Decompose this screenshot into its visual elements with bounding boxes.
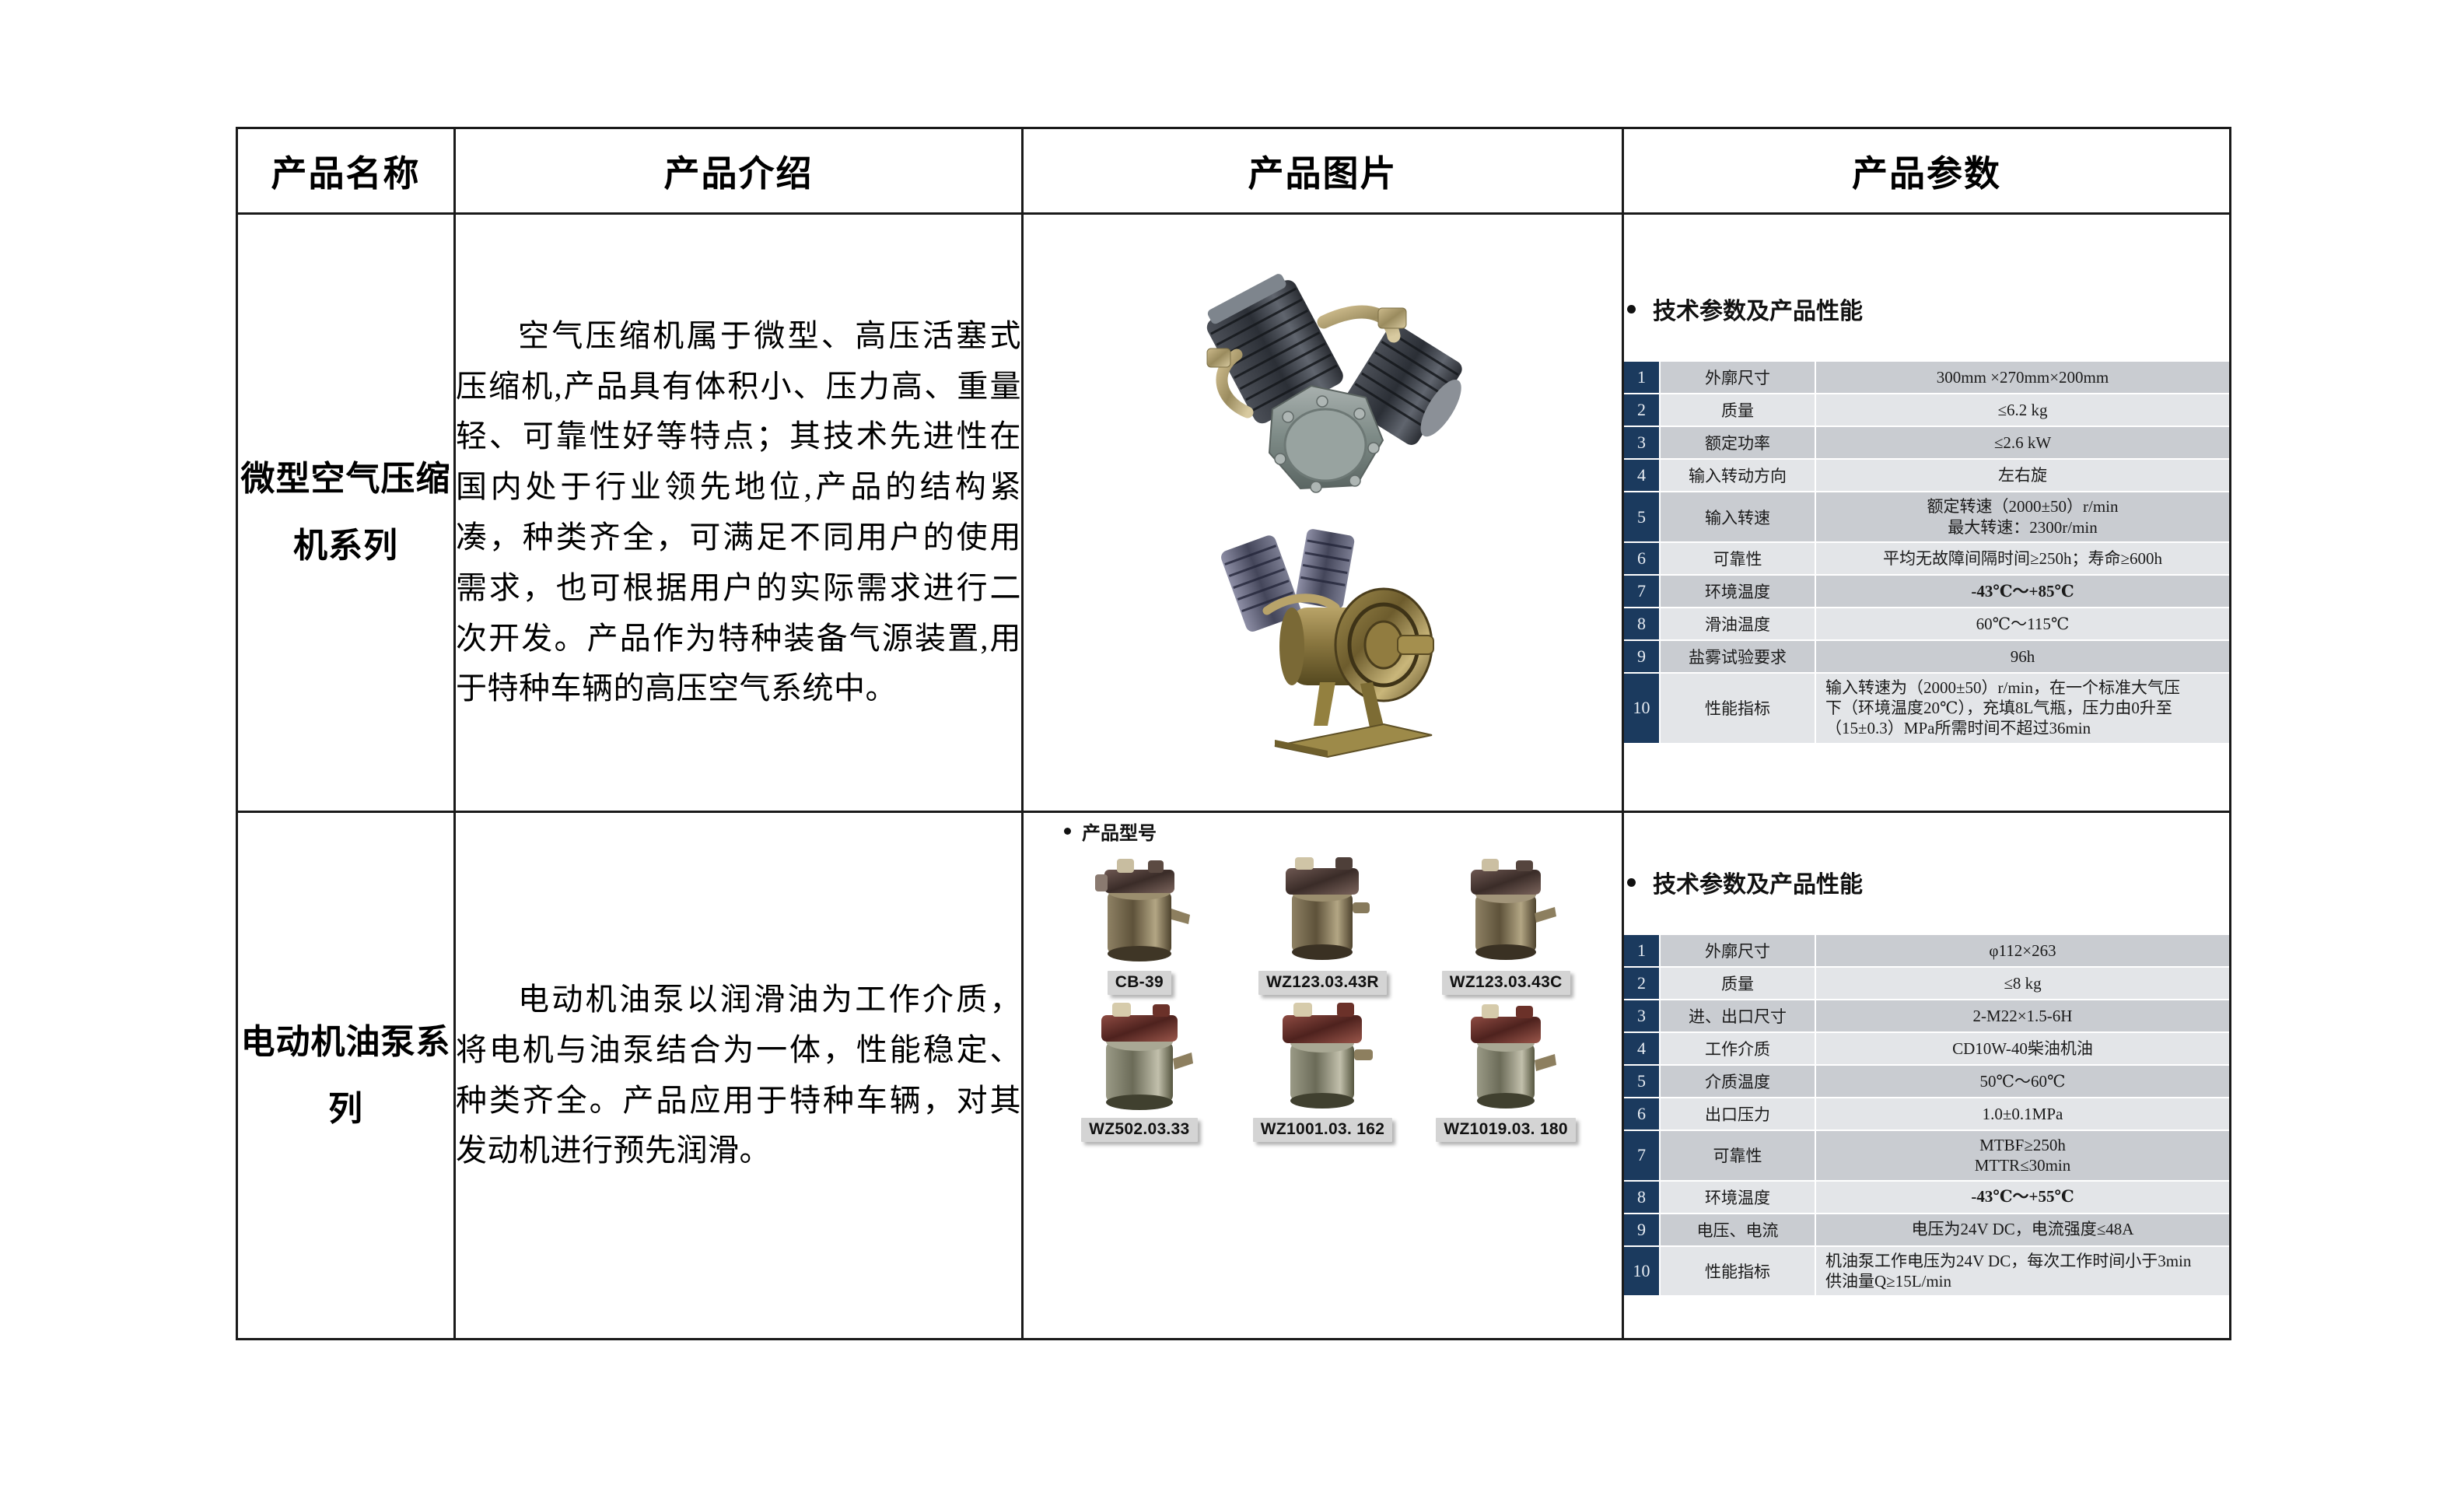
product-name-2: 电动机油泵系列 [237, 812, 455, 1340]
list-item: CB-39 [1052, 851, 1227, 995]
spec-value: ≤8 kg [1815, 967, 2229, 1000]
spec-title-2: 产品性能及技术参数 [1624, 907, 2229, 935]
model-caption: WZ1001.03. 162 [1253, 1118, 1392, 1142]
spec-value: 50℃～60℃ [1815, 1065, 2229, 1098]
spec-value: 60℃～115℃ [1815, 608, 2229, 640]
spec-table-2: 产品性能及技术参数 1外廓尺寸φ112×263 2质量≤8 kg 3进、出口尺寸… [1624, 907, 2229, 1297]
spec-key: 可靠性 [1660, 542, 1815, 575]
header-product-params: 产品参数 [1623, 128, 2231, 214]
spec-row: 5介质温度50℃～60℃ [1624, 1065, 2229, 1098]
spec-table-1: 产品性能及技术参数 1外廓尺寸300mm ×270mm×200mm 2质量≤6.… [1624, 334, 2229, 744]
spec-row: 6出口压力1.0±0.1MPa [1624, 1098, 2229, 1130]
spec-no: 10 [1624, 1246, 1660, 1297]
spec-row: 2质量≤8 kg [1624, 967, 2229, 1000]
spec-key: 环境温度 [1660, 575, 1815, 608]
list-item: WZ123.03.43C [1418, 851, 1594, 995]
product-images-1 [1023, 214, 1623, 812]
spec-no: 9 [1624, 1214, 1660, 1246]
model-caption: WZ502.03.33 [1081, 1118, 1197, 1142]
spec-row: 10性能指标输入转速为（2000±50）r/min，在一个标准大气压下（环境温度… [1624, 673, 2229, 744]
spec-no: 10 [1624, 673, 1660, 744]
spec-key: 性能指标 [1660, 1246, 1815, 1297]
spec-value: 机油泵工作电压为24V DC，每次工作时间小于3min供油量Q≥15L/min [1815, 1246, 2229, 1297]
spec-no: 2 [1624, 394, 1660, 426]
spec-no: 5 [1624, 492, 1660, 542]
table-header-row: 产品名称 产品介绍 产品图片 产品参数 [237, 128, 2231, 214]
spec-value: MTBF≥250hMTTR≤30min [1815, 1130, 2229, 1181]
param-section-title-text: 技术参数及产品性能 [1653, 292, 1863, 326]
spec-row: 1外廓尺寸φ112×263 [1624, 935, 2229, 967]
param-section-title-text: 技术参数及产品性能 [1653, 865, 1863, 899]
table-row: 微型空气压缩机系列 空气压缩机属于微型、高压活塞式压缩机,产品具有体积小、压力高… [237, 214, 2231, 812]
spec-key: 环境温度 [1660, 1181, 1815, 1214]
spec-no: 1 [1624, 362, 1660, 394]
spec-row: 4输入转动方向左右旋 [1624, 459, 2229, 492]
spec-key: 可靠性 [1660, 1130, 1815, 1181]
spec-value: ≤6.2 kg [1815, 394, 2229, 426]
spec-title-1: 产品性能及技术参数 [1624, 334, 2229, 362]
spec-row: 6可靠性平均无故障间隔时间≥250h；寿命≥600h [1624, 542, 2229, 575]
spec-row: 5输入转速额定转速（2000±50）r/min最大转速：2300r/min [1624, 492, 2229, 542]
spec-row: 1外廓尺寸300mm ×270mm×200mm [1624, 362, 2229, 394]
spec-no: 2 [1624, 967, 1660, 1000]
table-row: 电动机油泵系列 电动机油泵以润滑油为工作介质，将电机与油泵结合为一体，性能稳定、… [237, 812, 2231, 1340]
model-caption: WZ123.03.43C [1442, 971, 1570, 995]
spec-no: 8 [1624, 608, 1660, 640]
spec-key: 滑油温度 [1660, 608, 1815, 640]
spec-row: 7环境温度-43℃～+85℃ [1624, 575, 2229, 608]
list-item: WZ1001.03. 162 [1235, 998, 1411, 1142]
spec-row: 3额定功率≤2.6 kW [1624, 426, 2229, 459]
model-list-title: 产品型号 [1064, 818, 1157, 845]
spec-value: CD10W-40柴油机油 [1815, 1032, 2229, 1065]
compressor-photo-pulley [1175, 527, 1471, 764]
spec-row: 10性能指标机油泵工作电压为24V DC，每次工作时间小于3min供油量Q≥15… [1624, 1246, 2229, 1297]
spec-key: 盐雾试验要求 [1660, 640, 1815, 673]
spec-key: 介质温度 [1660, 1065, 1815, 1098]
spec-key: 质量 [1660, 394, 1815, 426]
spec-key: 工作介质 [1660, 1032, 1815, 1065]
spec-no: 8 [1624, 1181, 1660, 1214]
model-list-title-text: 产品型号 [1082, 818, 1157, 845]
spec-row: 3进、出口尺寸2-M22×1.5-6H [1624, 1000, 2229, 1032]
model-caption: WZ123.03.43R [1258, 971, 1387, 995]
document-page: 产品名称 产品介绍 产品图片 产品参数 微型空气压缩机系列 空气压缩机属于微型、… [0, 0, 2464, 1492]
product-intro-2: 电动机油泵以润滑油为工作介质，将电机与油泵结合为一体，性能稳定、种类齐全。产品应… [455, 812, 1023, 1340]
spec-row: 8环境温度-43℃～+55℃ [1624, 1181, 2229, 1214]
spec-row: 9电压、电流电压为24V DC，电流强度≤48A [1624, 1214, 2229, 1246]
spec-key: 质量 [1660, 967, 1815, 1000]
bullet-icon [1627, 878, 1636, 887]
compressor-photo-vtwin [1156, 261, 1490, 522]
spec-key: 外廓尺寸 [1660, 935, 1815, 967]
list-item: WZ1019.03. 180 [1418, 998, 1594, 1142]
bullet-icon [1627, 305, 1636, 313]
spec-key: 性能指标 [1660, 673, 1815, 744]
model-caption: CB-39 [1108, 971, 1171, 995]
spec-value: 额定转速（2000±50）r/min最大转速：2300r/min [1815, 492, 2229, 542]
spec-value: 2-M22×1.5-6H [1815, 1000, 2229, 1032]
bullet-icon [1064, 828, 1071, 835]
spec-row: 4工作介质CD10W-40柴油机油 [1624, 1032, 2229, 1065]
spec-value: -43℃～+55℃ [1815, 1181, 2229, 1214]
spec-no: 5 [1624, 1065, 1660, 1098]
list-item: WZ502.03.33 [1052, 998, 1227, 1142]
spec-no: 4 [1624, 459, 1660, 492]
spec-value: 输入转速为（2000±50）r/min，在一个标准大气压下（环境温度20℃），充… [1815, 673, 2229, 744]
spec-key: 进、出口尺寸 [1660, 1000, 1815, 1032]
product-intro-1: 空气压缩机属于微型、高压活塞式压缩机,产品具有体积小、压力高、重量轻、可靠性好等… [455, 214, 1023, 812]
spec-value: 平均无故障间隔时间≥250h；寿命≥600h [1815, 542, 2229, 575]
spec-key: 输入转动方向 [1660, 459, 1815, 492]
spec-row: 8滑油温度60℃～115℃ [1624, 608, 2229, 640]
spec-no: 6 [1624, 1098, 1660, 1130]
spec-no: 1 [1624, 935, 1660, 967]
spec-value: 电压为24V DC，电流强度≤48A [1815, 1214, 2229, 1246]
product-params-1: 技术参数及产品性能 产品性能及技术参数 1外廓尺寸300mm ×270mm×20… [1623, 214, 2231, 812]
spec-title-row: 产品性能及技术参数 [1624, 907, 2229, 935]
product-params-2: 技术参数及产品性能 产品性能及技术参数 1外廓尺寸φ112×263 2质量≤8 … [1623, 812, 2231, 1340]
spec-no: 6 [1624, 542, 1660, 575]
header-product-name: 产品名称 [237, 128, 455, 214]
spec-value: φ112×263 [1815, 935, 2229, 967]
header-product-image: 产品图片 [1023, 128, 1623, 214]
model-grid: CB-39 [1024, 851, 1622, 1142]
spec-no: 9 [1624, 640, 1660, 673]
spec-row: 9盐雾试验要求96h [1624, 640, 2229, 673]
spec-no: 4 [1624, 1032, 1660, 1065]
list-item: WZ123.03.43R [1235, 851, 1411, 995]
spec-value: -43℃～+85℃ [1815, 575, 2229, 608]
spec-no: 7 [1624, 575, 1660, 608]
product-table: 产品名称 产品介绍 产品图片 产品参数 微型空气压缩机系列 空气压缩机属于微型、… [236, 127, 2231, 1340]
model-caption: WZ1019.03. 180 [1436, 1118, 1575, 1142]
spec-key: 出口压力 [1660, 1098, 1815, 1130]
param-section-title-2: 技术参数及产品性能 [1627, 865, 2229, 899]
spec-value: ≤2.6 kW [1815, 426, 2229, 459]
spec-title-row: 产品性能及技术参数 [1624, 334, 2229, 362]
spec-no: 7 [1624, 1130, 1660, 1181]
spec-value: 300mm ×270mm×200mm [1815, 362, 2229, 394]
spec-row: 7可靠性MTBF≥250hMTTR≤30min [1624, 1130, 2229, 1181]
spec-key: 电压、电流 [1660, 1214, 1815, 1246]
product-name-1: 微型空气压缩机系列 [237, 214, 455, 812]
spec-no: 3 [1624, 1000, 1660, 1032]
spec-value: 96h [1815, 640, 2229, 673]
product-images-2: 产品型号 [1023, 812, 1623, 1340]
spec-key: 输入转速 [1660, 492, 1815, 542]
spec-row: 2质量≤6.2 kg [1624, 394, 2229, 426]
spec-key: 额定功率 [1660, 426, 1815, 459]
spec-no: 3 [1624, 426, 1660, 459]
param-section-title-1: 技术参数及产品性能 [1627, 292, 2229, 326]
header-product-intro: 产品介绍 [455, 128, 1023, 214]
spec-value: 1.0±0.1MPa [1815, 1098, 2229, 1130]
spec-key: 外廓尺寸 [1660, 362, 1815, 394]
spec-value: 左右旋 [1815, 459, 2229, 492]
